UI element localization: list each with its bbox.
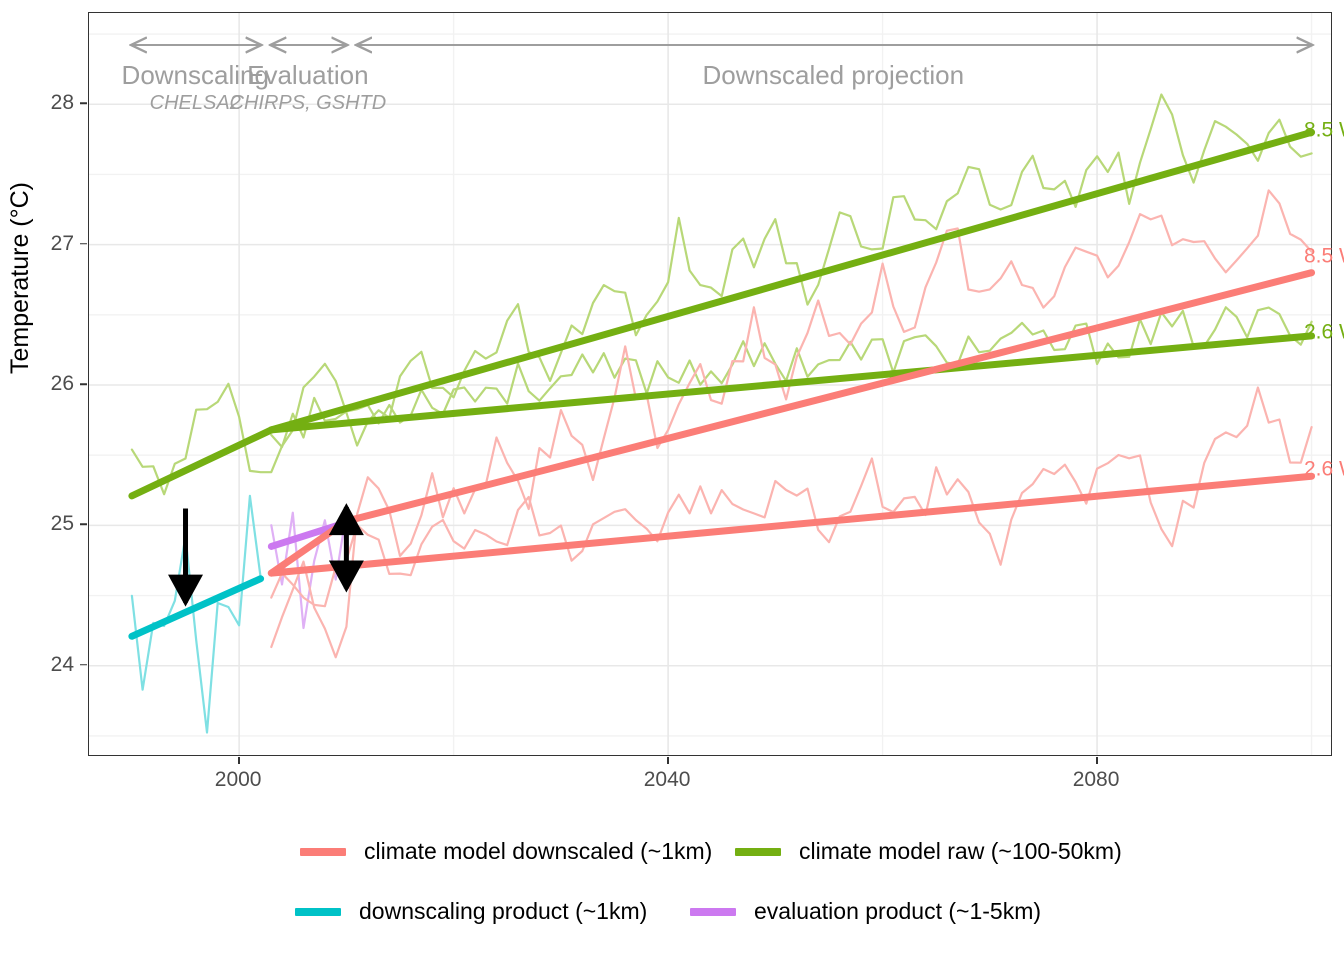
legend-item-evaluation-product[interactable]: evaluation product (~1-5km) <box>690 898 1041 925</box>
legend-item-climate-model-raw[interactable]: climate model raw (~100-50km) <box>735 838 1122 865</box>
scenario-label-text: 2.6 W m <box>1304 458 1344 481</box>
y-tick-mark <box>80 664 87 666</box>
y-tick-label: 26 <box>14 372 74 396</box>
series-line <box>132 95 1312 495</box>
x-tick-mark <box>667 757 669 764</box>
legend-label: climate model downscaled (~1km) <box>364 838 712 865</box>
legend-swatch-evaluation-product <box>690 908 736 916</box>
phase-label-sub: CHIRPS, GSHTD <box>108 90 508 116</box>
x-tick-mark <box>1096 757 1098 764</box>
phase-label-main: Evaluation <box>108 60 508 90</box>
legend-swatch-climate-model-downscaled <box>300 848 346 856</box>
legend-item-climate-model-downscaled[interactable]: climate model downscaled (~1km) <box>300 838 712 865</box>
y-tick-mark <box>80 243 87 245</box>
series-lines <box>132 95 1312 733</box>
y-tick-label: 24 <box>14 653 74 677</box>
annotation-arrows <box>186 507 347 602</box>
scenario-label-text: 8.5 W m <box>1304 118 1344 141</box>
scenario-label-text: 2.6 W m <box>1304 320 1344 343</box>
scenario-label-raw-rcp85: 8.5 W m− 2 <box>1304 115 1344 142</box>
series-line <box>271 190 1311 657</box>
legend-swatch-downscaling-product <box>295 908 341 916</box>
y-tick-label: 27 <box>14 232 74 256</box>
x-tick-label: 2040 <box>607 768 727 792</box>
legend-label: downscaling product (~1km) <box>359 898 647 925</box>
scenario-label-downscaled-rcp26: 2.6 W m− 2 <box>1304 455 1344 482</box>
series-line <box>132 496 261 733</box>
plot-svg <box>89 13 1332 756</box>
gridlines-major <box>89 13 1332 756</box>
x-tick-label: 2080 <box>1036 768 1156 792</box>
legend-item-downscaling-product[interactable]: downscaling product (~1km) <box>295 898 647 925</box>
legend-label: climate model raw (~100-50km) <box>799 838 1122 865</box>
y-tick-mark <box>80 524 87 526</box>
phase-label-main: Downscaled projection <box>633 60 1033 90</box>
scenario-label-raw-rcp26: 2.6 W m− 2 <box>1304 317 1344 344</box>
x-tick-mark <box>238 757 240 764</box>
phase-label-downscaled-projection: Downscaled projection <box>633 60 1033 90</box>
legend-label: evaluation product (~1-5km) <box>754 898 1041 925</box>
y-tick-mark <box>80 383 87 385</box>
phase-label-evaluation: EvaluationCHIRPS, GSHTD <box>108 60 508 116</box>
trend-line <box>346 273 1311 521</box>
legend-swatch-climate-model-raw <box>735 848 781 856</box>
y-axis-title: Temperature (°C) <box>6 255 35 295</box>
scenario-label-downscaled-rcp85: 8.5 W m− 2 <box>1304 241 1344 268</box>
x-tick-label: 2000 <box>178 768 298 792</box>
climate-downscaling-chart: Temperature (°C) 2425262728 200020402080 <box>0 0 1344 960</box>
trend-line <box>132 430 271 496</box>
legend: climate model downscaled (~1km)climate m… <box>0 812 1344 952</box>
scenario-label-text: 8.5 W m <box>1304 244 1344 267</box>
plot-panel <box>88 12 1332 756</box>
y-tick-label: 25 <box>14 512 74 536</box>
